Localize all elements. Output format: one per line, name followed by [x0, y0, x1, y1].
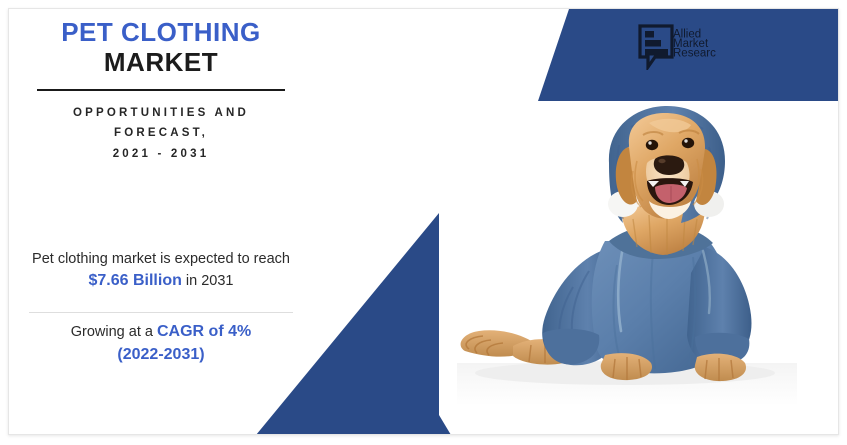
market-size-value: $7.66 Billion — [89, 272, 182, 289]
dog-in-hoodie-photo — [457, 101, 797, 406]
title-divider — [37, 89, 285, 91]
report-subtitle: OPPORTUNITIES AND FORECAST, 2021 - 2031 — [21, 103, 301, 164]
subtitle-line-3: 2021 - 2031 — [21, 144, 301, 164]
infographic-card: Allied Market Research PET CLOTHING MARK… — [8, 8, 839, 435]
subtitle-line-2: FORECAST, — [21, 123, 301, 143]
dog-illustration — [457, 101, 797, 406]
cagr-text-before: Growing at a — [71, 324, 157, 340]
logo-bar-2 — [645, 40, 661, 47]
market-size-text-after: in 2031 — [182, 273, 234, 289]
logo-bar-1 — [645, 31, 654, 38]
dog-nose-highlight — [658, 159, 665, 163]
market-size-text-before: Pet clothing market is expected to reach — [32, 251, 290, 267]
logo-text-research: Research — [673, 48, 716, 60]
headline-block: PET CLOTHING MARKET OPPORTUNITIES AND FO… — [21, 17, 301, 164]
pet-clothing-market-infographic: Allied Market Research PET CLOTHING MARK… — [0, 0, 847, 445]
dog-eye-right-glint — [684, 139, 687, 142]
stat-divider — [29, 312, 293, 313]
subtitle-line-1: OPPORTUNITIES AND — [21, 103, 301, 123]
logo-bar-3 — [645, 49, 668, 56]
cagr-stat: Growing at a CAGR of 4% (2022-2031) — [21, 321, 301, 366]
market-size-stat: Pet clothing market is expected to reach… — [21, 249, 301, 292]
page-title-secondary: MARKET — [21, 47, 301, 77]
allied-market-research-logo[interactable]: Allied Market Research — [638, 24, 716, 70]
cagr-value: CAGR of 4% — [157, 323, 251, 340]
dog-eye-left — [646, 140, 658, 150]
dog-eye-right — [682, 138, 694, 148]
page-title-primary: PET CLOTHING — [21, 17, 301, 47]
dog-eye-left-glint — [648, 141, 651, 144]
cagr-period: (2022-2031) — [21, 344, 301, 367]
dog-nose — [654, 155, 684, 175]
